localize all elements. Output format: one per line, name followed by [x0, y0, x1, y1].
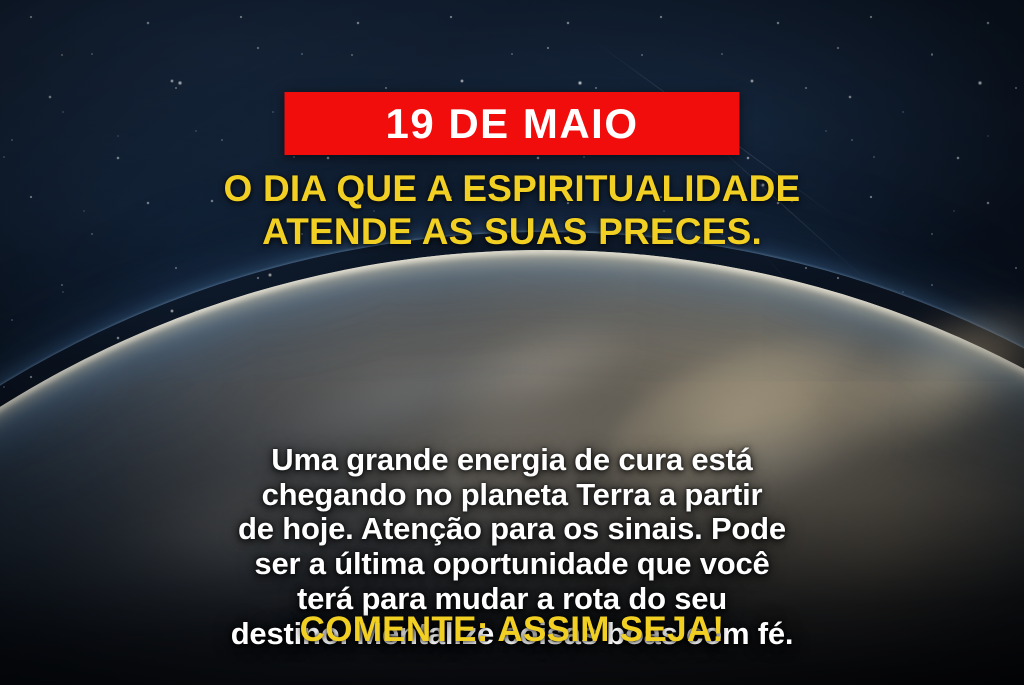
- date-banner-label: 19 DE MAIO: [385, 103, 638, 145]
- call-to-action-text: COMENTE: ASSIM SEJA!: [0, 612, 1024, 647]
- poster-canvas: 19 DE MAIO O DIA QUE A ESPIRITUALIDADE A…: [0, 0, 1024, 685]
- poster-content: 19 DE MAIO O DIA QUE A ESPIRITUALIDADE A…: [0, 0, 1024, 685]
- headline-text: O DIA QUE A ESPIRITUALIDADE ATENDE AS SU…: [0, 168, 1024, 254]
- date-banner: 19 DE MAIO: [285, 92, 740, 155]
